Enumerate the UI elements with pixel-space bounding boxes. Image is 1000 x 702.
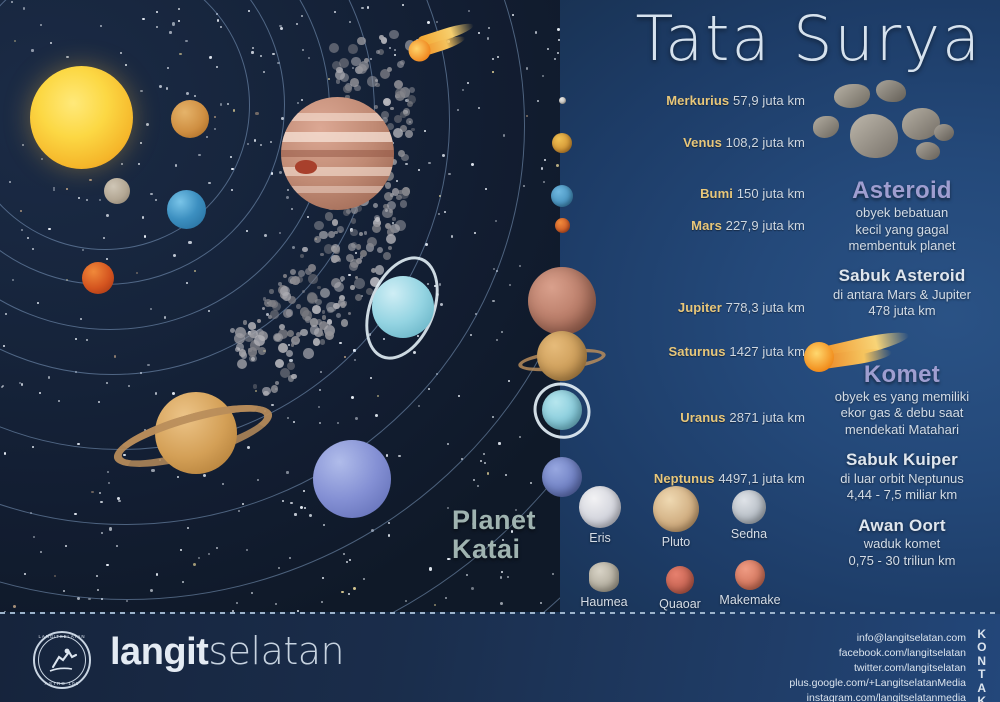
- planet-name: Uranus: [680, 410, 725, 425]
- kontak-letter: T: [974, 668, 990, 681]
- mercury-illustration: [104, 178, 130, 204]
- planet-label: Jupiter 778,3 juta km: [678, 300, 805, 315]
- right-info-column: Asteroid obyek bebatuan kecil yang gagal…: [812, 86, 992, 569]
- logo-bottom-text: ASTRO 101: [35, 681, 89, 686]
- venus-icon: [552, 133, 572, 153]
- planet-distance: 227,9 juta km: [726, 218, 805, 233]
- kontak-letter: N: [974, 655, 990, 668]
- dwarf-planet-item: Makemake: [718, 560, 782, 607]
- awan-oort-heading: Awan Oort: [812, 517, 992, 536]
- sabuk-asteroid-heading: Sabuk Asteroid: [812, 267, 992, 286]
- planet-name: Bumi: [700, 186, 733, 201]
- comet-icon: [812, 332, 992, 384]
- asteroid-heading: Asteroid: [812, 178, 992, 203]
- planet-label: Merkurius 57,9 juta km: [666, 93, 805, 108]
- planet-name: Jupiter: [678, 300, 722, 315]
- planet-distance-list: Merkurius 57,9 juta kmVenus 108,2 juta k…: [540, 85, 805, 505]
- infographic-poster: Tata Surya Merkurius 57,9 juta kmVenus 1…: [0, 0, 1000, 702]
- planet-name: Merkurius: [666, 93, 729, 108]
- saturn-illustration: [103, 370, 283, 500]
- sabuk-kuiper-heading: Sabuk Kuiper: [812, 451, 992, 470]
- dwarf-planet-item: Haumea: [572, 562, 636, 609]
- jupiter-icon: [528, 267, 596, 335]
- brand-thin-text: selatan: [208, 629, 344, 673]
- planet-label: Neptunus 4497,1 juta km: [654, 471, 805, 486]
- sedna-icon: [732, 490, 766, 524]
- dwarf-heading-line1: Planet: [452, 506, 550, 535]
- planet-distance: 150 juta km: [737, 186, 805, 201]
- dwarf-planet-heading: Planet Katai: [452, 506, 550, 564]
- kontak-vertical-label: KONTAK: [974, 628, 990, 702]
- asteroid-description: obyek bebatuan kecil yang gagal membentu…: [812, 205, 992, 254]
- bumi-icon: [551, 185, 573, 207]
- earth-illustration: [167, 190, 206, 229]
- planet-label: Bumi 150 juta km: [700, 186, 805, 201]
- planet-label: Saturnus 1427 juta km: [668, 344, 805, 359]
- planet-name: Saturnus: [668, 344, 725, 359]
- dwarf-planet-name: Pluto: [644, 535, 708, 549]
- contact-line[interactable]: plus.google.com/+LangitselatanMedia: [736, 676, 966, 691]
- footer-bar: LANGITSELATAN ASTRO 101 langitselatan in…: [0, 614, 1000, 702]
- dwarf-planet-name: Makemake: [718, 593, 782, 607]
- eris-icon: [579, 486, 621, 528]
- logo-top-text: LANGITSELATAN: [35, 634, 89, 639]
- planet-distance: 778,3 juta km: [726, 300, 805, 315]
- dwarf-planet-item: Quaoar: [648, 566, 712, 611]
- planet-distance: 4497,1 juta km: [718, 471, 805, 486]
- dwarf-planet-item: Sedna: [717, 490, 781, 541]
- planet-distance: 1427 juta km: [729, 344, 805, 359]
- mars-icon: [555, 218, 570, 233]
- saturnus-icon: [537, 331, 587, 381]
- contact-line[interactable]: instagram.com/langitselatanmedia: [736, 691, 966, 702]
- planet-label: Uranus 2871 juta km: [680, 410, 805, 425]
- sabuk-asteroid-description: di antara Mars & Jupiter 478 juta km: [812, 287, 992, 320]
- sabuk-kuiper-description: di luar orbit Neptunus 4,44 - 7,5 miliar…: [812, 471, 992, 504]
- planet-label: Venus 108,2 juta km: [683, 135, 805, 150]
- kontak-letter: K: [974, 628, 990, 641]
- dwarf-planet-name: Sedna: [717, 527, 781, 541]
- sun-illustration: [30, 66, 133, 169]
- neptune-illustration: [313, 440, 391, 518]
- dwarf-planet-item: Pluto: [644, 486, 708, 549]
- dwarf-planet-name: Haumea: [572, 595, 636, 609]
- makemake-icon: [735, 560, 765, 590]
- kontak-letter: A: [974, 682, 990, 695]
- asteroid-rocks-illustration: [812, 86, 992, 178]
- brand-wordmark: langitselatan: [110, 632, 344, 671]
- komet-description: obyek es yang memiliki ekor gas & debu s…: [812, 389, 992, 438]
- pluto-icon: [653, 486, 699, 532]
- contact-line[interactable]: twitter.com/langitselatan: [736, 661, 966, 676]
- planet-distance: 2871 juta km: [729, 410, 805, 425]
- kontak-letter: O: [974, 641, 990, 654]
- jupiter-illustration: [281, 97, 394, 210]
- venus-illustration: [171, 100, 209, 138]
- mars-illustration: [82, 262, 114, 294]
- dwarf-planet-name: Quaoar: [648, 597, 712, 611]
- planet-name: Venus: [683, 135, 722, 150]
- planet-name: Mars: [691, 218, 722, 233]
- dwarf-planet-name: Eris: [568, 531, 632, 545]
- uranus-icon: [542, 390, 582, 430]
- langitselatan-logo-icon: LANGITSELATAN ASTRO 101: [33, 631, 91, 689]
- merkurius-icon: [559, 97, 566, 104]
- page-title: Tata Surya: [636, 2, 982, 75]
- contact-line[interactable]: facebook.com/langitselatan: [736, 646, 966, 661]
- contact-line[interactable]: info@langitselatan.com: [736, 631, 966, 646]
- awan-oort-description: waduk komet 0,75 - 30 triliun km: [812, 536, 992, 569]
- planet-name: Neptunus: [654, 471, 715, 486]
- kontak-letter: K: [974, 695, 990, 702]
- brand-bold-text: langit: [110, 631, 208, 673]
- contact-list: info@langitselatan.comfacebook.com/langi…: [736, 631, 966, 702]
- planet-distance: 108,2 juta km: [726, 135, 805, 150]
- uranus-illustration: [347, 258, 459, 358]
- planet-distance: 57,9 juta km: [733, 93, 805, 108]
- haumea-icon: [589, 562, 619, 592]
- quaoar-icon: [666, 566, 694, 594]
- dwarf-planet-item: Eris: [568, 486, 632, 545]
- planet-label: Mars 227,9 juta km: [691, 218, 805, 233]
- dwarf-heading-line2: Katai: [452, 535, 550, 564]
